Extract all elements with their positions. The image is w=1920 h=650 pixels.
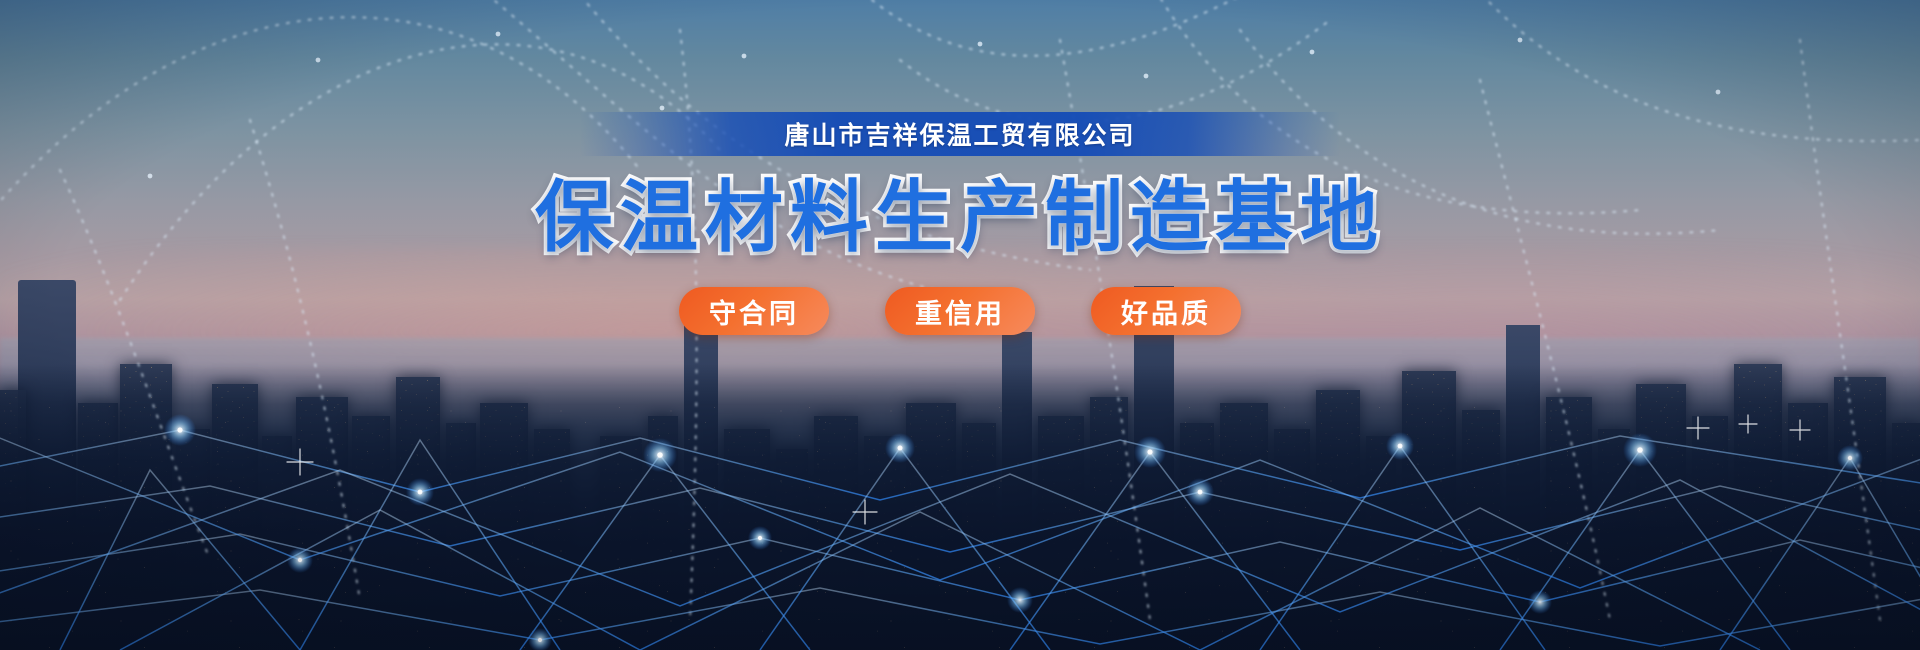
badge-label: 守合同	[709, 292, 799, 331]
banner-content: 唐山市吉祥保温工贸有限公司 保温材料生产制造基地 守合同 重信用 好品质	[0, 0, 1920, 650]
badge-label: 好品质	[1121, 292, 1211, 331]
company-name-ribbon: 唐山市吉祥保温工贸有限公司	[580, 112, 1340, 156]
feature-badge-row: 守合同 重信用 好品质	[679, 287, 1241, 335]
badge-good-quality[interactable]: 好品质	[1091, 287, 1241, 335]
badge-label: 重信用	[915, 292, 1005, 331]
page-title: 保温材料生产制造基地	[535, 174, 1385, 261]
badge-contract-compliance[interactable]: 守合同	[679, 287, 829, 335]
badge-credit-trust[interactable]: 重信用	[885, 287, 1035, 335]
company-name: 唐山市吉祥保温工贸有限公司	[784, 116, 1135, 152]
hero-banner: 唐山市吉祥保温工贸有限公司 保温材料生产制造基地 守合同 重信用 好品质	[0, 0, 1920, 650]
